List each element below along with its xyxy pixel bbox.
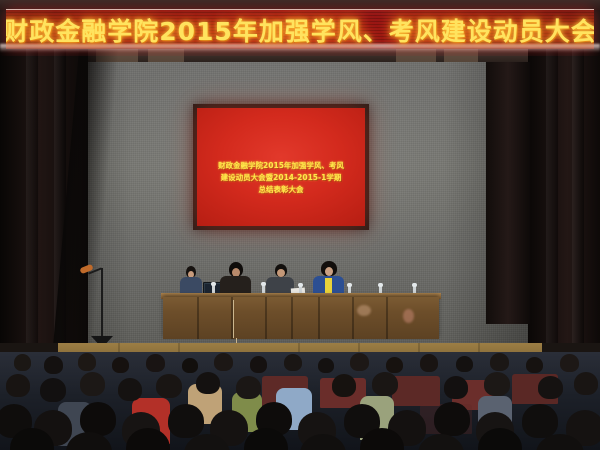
stage-curtain-left (0, 48, 88, 348)
screen-line-3: 总结表彰大会 (218, 184, 344, 196)
table-seam (197, 297, 199, 339)
table-seam (352, 297, 354, 339)
screen-line-2: 建设动员大会暨2014-2015-1学期 (218, 172, 344, 184)
panelist-face (325, 267, 333, 276)
audience-section (0, 352, 600, 450)
audience-head (434, 402, 470, 436)
audience-head (332, 374, 356, 397)
audience-head (14, 354, 31, 371)
audience-head (386, 357, 403, 373)
audience-head (372, 372, 398, 396)
audience-head (236, 376, 261, 399)
audience-head (156, 374, 182, 398)
audience-head (420, 354, 438, 372)
audience-head (40, 378, 66, 402)
led-banner: 财政金融学院2015年加强学风、考风建设动员大会 (6, 9, 594, 49)
audience-head (196, 372, 220, 394)
table-seam (291, 297, 293, 339)
table-seam (318, 297, 320, 339)
panelist-face (277, 269, 285, 277)
led-banner-text: 财政金融学院2015年加强学风、考风建设动员大会 (6, 12, 594, 48)
audience-head (118, 378, 142, 401)
projector-screen-text: 财政金融学院2015年加强学风、考风 建设动员大会暨2014-2015-1学期 … (218, 160, 344, 196)
audience-head (490, 353, 509, 371)
audience-head (168, 404, 204, 438)
audience-head (112, 357, 129, 373)
screen-line-1: 财政金融学院2015年加强学风、考风 (218, 160, 344, 172)
audience-head (214, 353, 233, 371)
audience-head (146, 354, 165, 372)
audience-head (560, 354, 579, 372)
audience-head (44, 356, 63, 374)
curtain-fold (54, 48, 66, 348)
table-stain (357, 305, 371, 316)
audience-head (284, 354, 302, 371)
curtain-fold (572, 48, 584, 348)
curtain-fold (26, 48, 38, 348)
mic-stand-pole (101, 268, 103, 340)
led-banner-area: 财政金融学院2015年加强学风、考风建设动员大会 (0, 0, 600, 56)
table-stain (403, 309, 414, 323)
audience-head (574, 372, 598, 395)
audience-head (526, 357, 543, 373)
audience-head (444, 376, 468, 399)
audience-head (182, 358, 198, 373)
stage-drape-mid-right (486, 62, 530, 324)
head-table (163, 297, 439, 339)
audience-head (456, 356, 473, 372)
audience-head (318, 358, 334, 373)
audience-head (484, 372, 510, 396)
panelist-scarf (325, 278, 332, 294)
audience-head (80, 372, 105, 396)
audience-head (6, 374, 30, 397)
audience-head (350, 353, 369, 371)
table-seam (265, 297, 267, 339)
curtain-fold (546, 48, 558, 348)
projector-screen: 财政金融学院2015年加强学风、考风 建设动员大会暨2014-2015-1学期 … (197, 108, 365, 226)
auditorium-seat (392, 376, 440, 406)
audience-head (522, 404, 558, 438)
hanging-cord (233, 300, 234, 338)
table-seam (386, 297, 388, 339)
audience-head (78, 353, 96, 371)
audience-head (538, 376, 563, 399)
audience-head (80, 402, 116, 436)
auditorium-photo: 财政金融学院2015年加强学风、考风 建设动员大会暨2014-2015-1学期 … (0, 0, 600, 450)
stage-curtain-right (528, 48, 600, 348)
audience-head (250, 356, 267, 373)
